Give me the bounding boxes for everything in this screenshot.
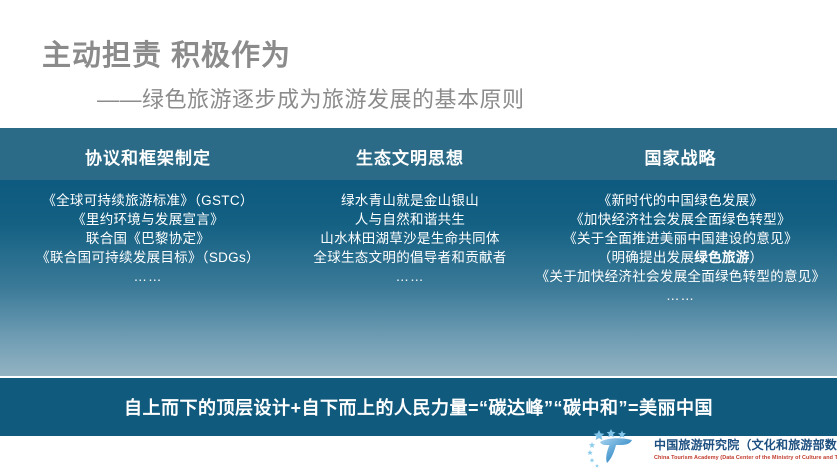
summary-banner-text: 自上而下的顶层设计+自下而上的人民力量=“碳达峰”“碳中和”=美丽中国 <box>124 394 713 420</box>
logo-text-block: 中国旅游研究院（文化和旅游部数据中心） China Tourism Academ… <box>654 436 837 461</box>
list-item: 绿水青山就是金山银山 <box>300 191 520 210</box>
column-header-eco-civilization: 生态文明思想 <box>296 128 524 180</box>
column-header-agreements: 协议和框架制定 <box>0 128 296 180</box>
content-panel: 协议和框架制定 生态文明思想 国家战略 《全球可持续旅游标准》（GSTC） 《里… <box>0 128 837 376</box>
organization-logo: 中国旅游研究院（文化和旅游部数据中心） China Tourism Academ… <box>586 428 837 468</box>
title-block: 主动担责 积极作为 ——绿色旅游逐步成为旅游发展的基本原则 <box>0 0 837 128</box>
list-item-ellipsis: …… <box>300 267 520 286</box>
annotation-emphasis: 绿色旅游 <box>694 250 749 265</box>
list-item: 《全球可持续旅游标准》（GSTC） <box>6 191 290 210</box>
table-body-row: 《全球可持续旅游标准》（GSTC） 《里约环境与发展宣言》 联合国《巴黎协定》 … <box>0 180 837 376</box>
table-cell-national-strategy: 《新时代的中国绿色发展》 《加快经济社会发展全面绿色转型》 《关于全面推进美丽中… <box>524 180 837 376</box>
list-item: 《联合国可持续发展目标》（SDGs） <box>6 248 290 267</box>
list-item: 《关于加快经济社会发展全面绿色转型的意见》 <box>534 267 827 286</box>
list-item: 《新时代的中国绿色发展》 <box>534 191 827 210</box>
page-title: 主动担责 积极作为 <box>42 32 291 74</box>
table-cell-agreements: 《全球可持续旅游标准》（GSTC） 《里约环境与发展宣言》 联合国《巴黎协定》 … <box>0 180 296 376</box>
table-cell-eco-civilization: 绿水青山就是金山银山 人与自然和谐共生 山水林田湖草沙是生命共同体 全球生态文明… <box>296 180 524 376</box>
list-item: 人与自然和谐共生 <box>300 210 520 229</box>
table-header-row: 协议和框架制定 生态文明思想 国家战略 <box>0 128 837 180</box>
annotation-prefix: （明确提出发展 <box>598 250 695 265</box>
logo-mark-icon <box>586 428 652 468</box>
column-header-national-strategy: 国家战略 <box>524 128 837 180</box>
list-item-annotation: （明确提出发展绿色旅游） <box>534 248 827 267</box>
annotation-suffix: ） <box>750 250 764 265</box>
list-item-ellipsis: …… <box>6 267 290 286</box>
list-item-ellipsis: …… <box>534 286 827 305</box>
logo-name-en: China Tourism Academy (Data Center of th… <box>654 455 837 461</box>
page-subtitle: ——绿色旅游逐步成为旅游发展的基本原则 <box>97 82 525 114</box>
logo-name-cn: 中国旅游研究院（文化和旅游部数据中心） <box>654 436 837 453</box>
list-item: 联合国《巴黎协定》 <box>6 229 290 248</box>
list-item: 全球生态文明的倡导者和贡献者 <box>300 248 520 267</box>
list-item: 《加快经济社会发展全面绿色转型》 <box>534 210 827 229</box>
list-item: 《里约环境与发展宣言》 <box>6 210 290 229</box>
list-item: 山水林田湖草沙是生命共同体 <box>300 229 520 248</box>
list-item: 《关于全面推进美丽中国建设的意见》 <box>534 229 827 248</box>
